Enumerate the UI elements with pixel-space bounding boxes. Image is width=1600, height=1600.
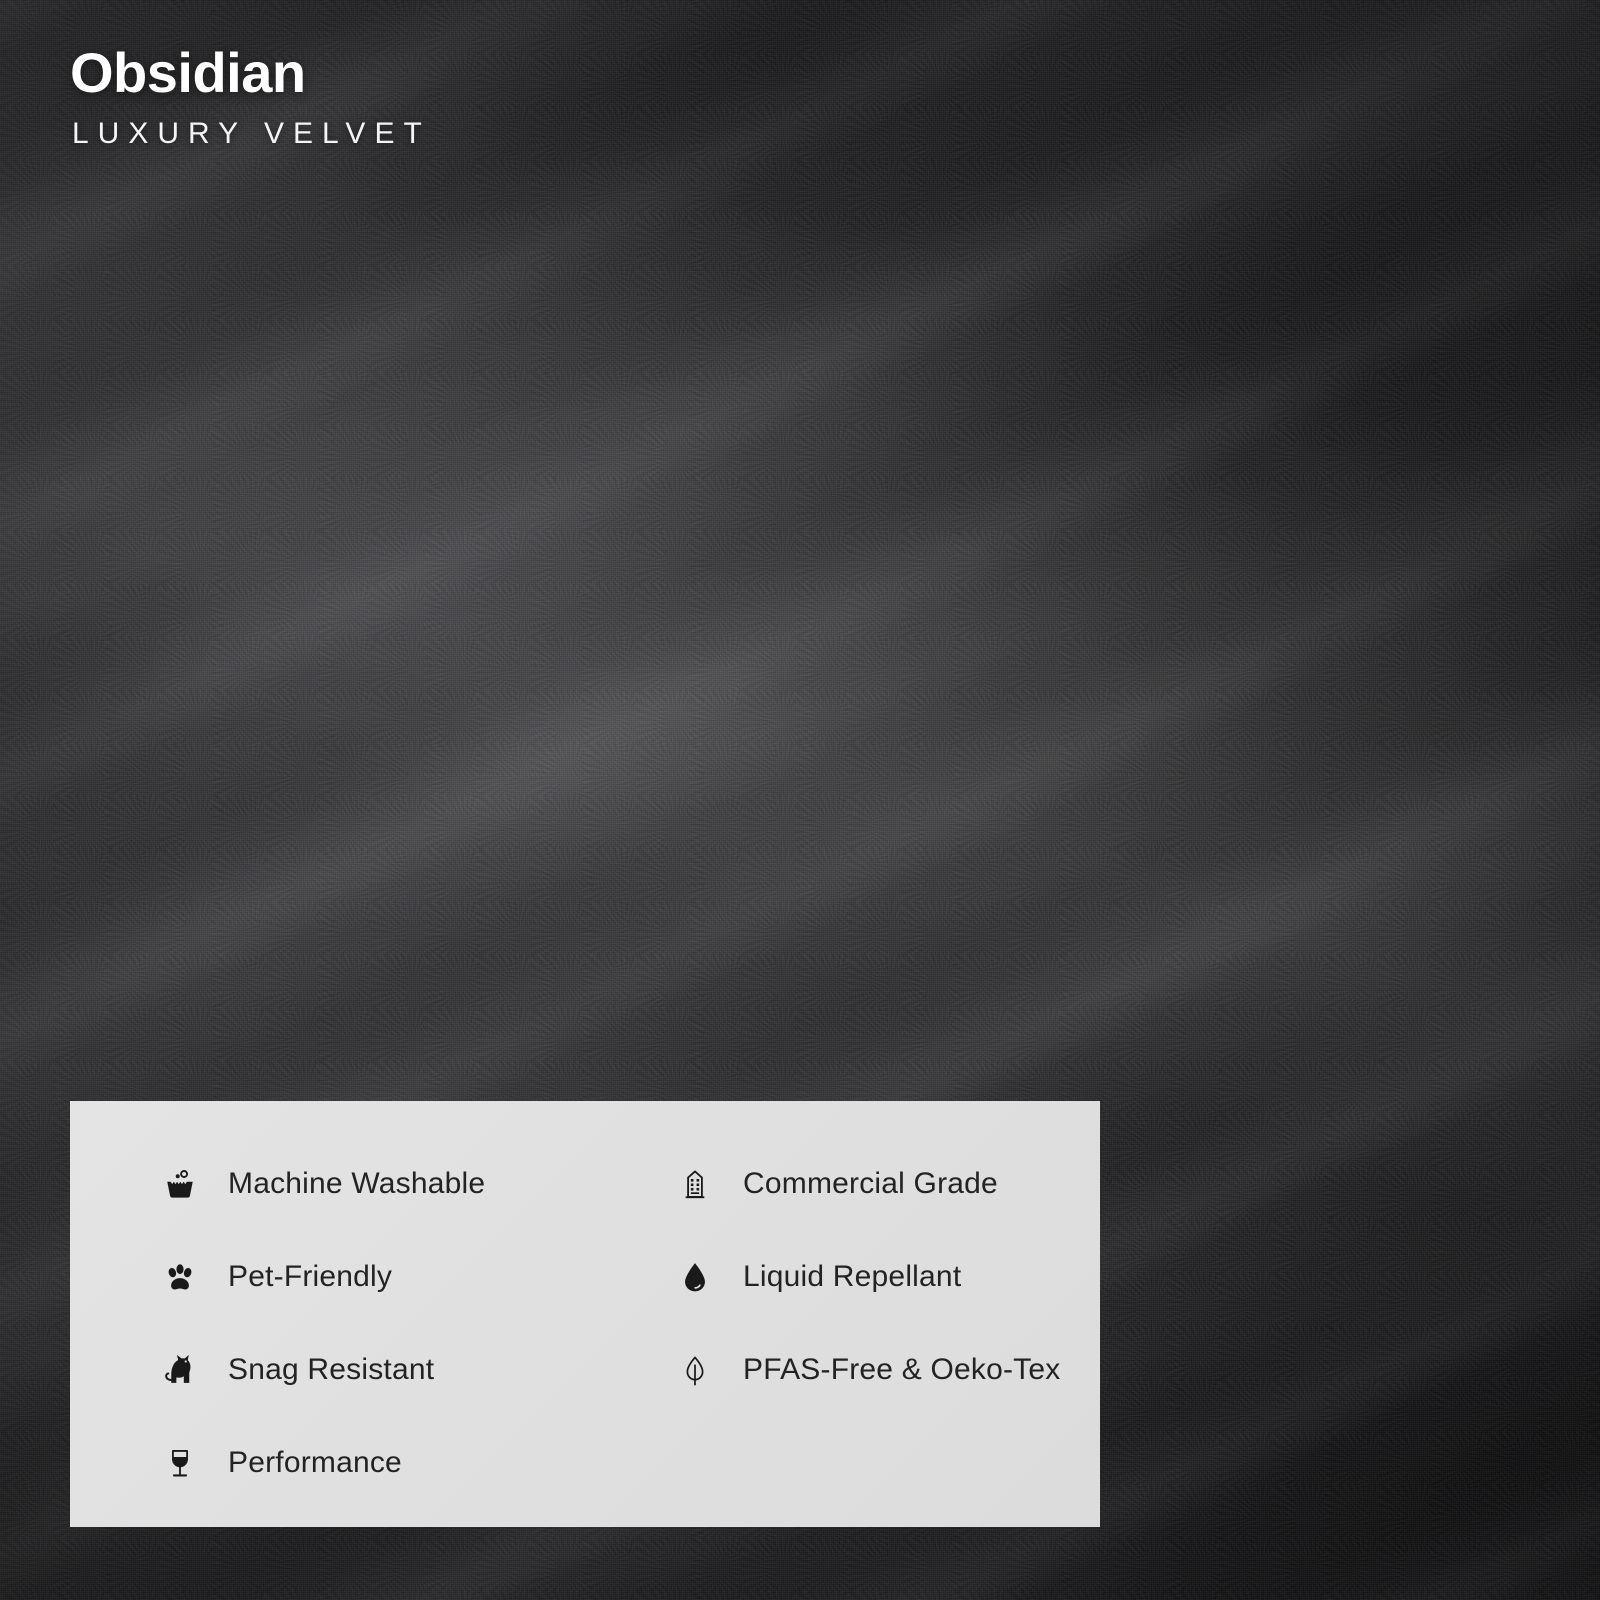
fabric-swatch-card: Obsidian LUXURY VELVET Machine Washable <box>0 0 1600 1600</box>
page-title: Obsidian <box>70 44 431 103</box>
product-header: Obsidian LUXURY VELVET <box>70 44 431 150</box>
wine-glass-icon <box>158 1441 202 1485</box>
wash-basin-icon <box>158 1162 202 1206</box>
paw-print-icon <box>158 1255 202 1299</box>
feature-label: Machine Washable <box>228 1167 485 1201</box>
feature-item-pet-friendly: Pet-Friendly <box>110 1230 625 1323</box>
feature-item-snag-resistant: Snag Resistant <box>110 1323 625 1416</box>
feature-label: Snag Resistant <box>228 1353 434 1387</box>
feature-label: Pet-Friendly <box>228 1260 392 1294</box>
leaf-icon <box>673 1348 717 1392</box>
feature-label: Liquid Repellant <box>743 1260 961 1294</box>
feature-grid-empty-cell <box>625 1416 1140 1509</box>
feature-label: Commercial Grade <box>743 1167 998 1201</box>
water-drop-icon <box>673 1255 717 1299</box>
feature-label: Performance <box>228 1446 402 1480</box>
feature-label: PFAS-Free & Oeko-Tex <box>743 1353 1060 1387</box>
building-icon <box>673 1162 717 1206</box>
cat-icon <box>158 1348 202 1392</box>
feature-item-pfas-free: PFAS-Free & Oeko-Tex <box>625 1323 1140 1416</box>
feature-item-machine-washable: Machine Washable <box>110 1137 625 1230</box>
feature-item-performance: Performance <box>110 1416 625 1509</box>
feature-item-liquid-repellant: Liquid Repellant <box>625 1230 1140 1323</box>
product-subtitle: LUXURY VELVET <box>72 117 431 150</box>
feature-panel: Machine Washable Commercial Grade <box>70 1101 1100 1527</box>
feature-item-commercial-grade: Commercial Grade <box>625 1137 1140 1230</box>
